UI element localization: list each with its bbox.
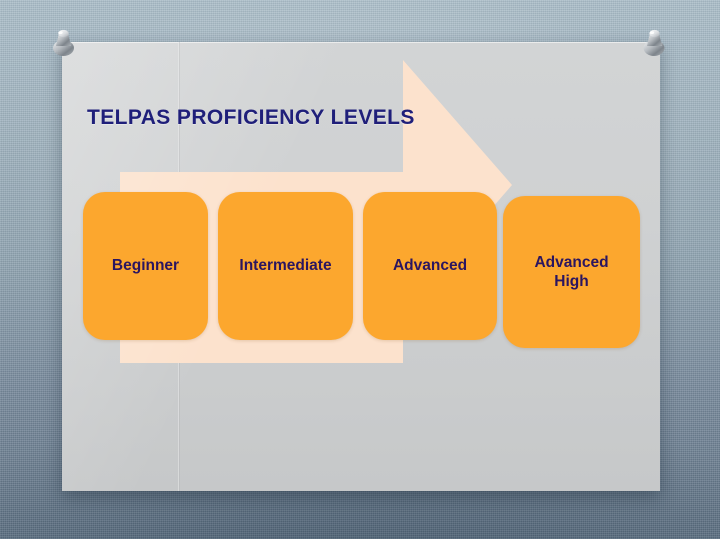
level-box-advanced[interactable]: Advanced <box>363 192 497 340</box>
level-box-label: Advanced High <box>534 253 608 292</box>
level-box-intermediate[interactable]: Intermediate <box>218 192 353 340</box>
pushpin-top-left <box>47 26 77 60</box>
presentation-slide: TELPAS PROFICIENCY LEVELS Beginner Inter… <box>62 42 660 491</box>
pushpin-top-right <box>640 26 670 60</box>
level-box-label: Advanced <box>393 256 467 275</box>
level-box-label: Intermediate <box>239 256 331 275</box>
scene: TELPAS PROFICIENCY LEVELS Beginner Inter… <box>0 0 720 539</box>
level-box-label-line2: High <box>554 273 588 290</box>
level-box-label-line1: Advanced <box>534 254 608 271</box>
level-box-advanced-high[interactable]: Advanced High <box>503 196 640 348</box>
level-box-label: Beginner <box>112 256 179 275</box>
page-title: TELPAS PROFICIENCY LEVELS <box>87 106 415 130</box>
level-box-beginner[interactable]: Beginner <box>83 192 208 340</box>
